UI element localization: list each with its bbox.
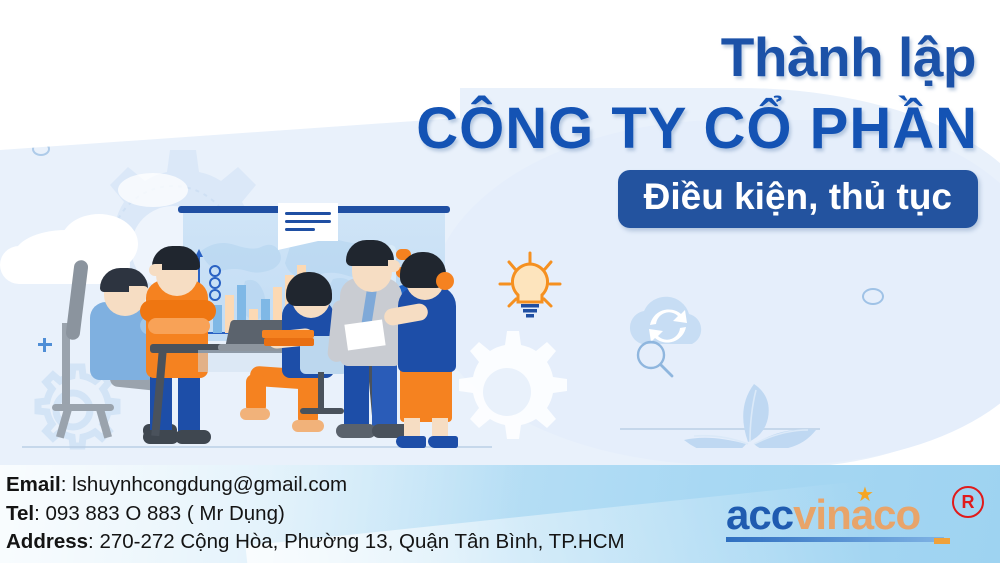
- contact-tel-label: Tel: [6, 502, 34, 525]
- contact-sep: :: [88, 530, 99, 553]
- contact-block: Email: lshuynhcongdung@gmail.com Tel: 09…: [6, 471, 625, 557]
- page-title-line2: CÔNG TY CỔ PHẦN: [416, 95, 978, 162]
- contact-sep: :: [61, 473, 72, 496]
- contact-address-value: 270-272 Cộng Hòa, Phường 13, Quận Tân Bì…: [99, 530, 624, 553]
- contact-tel-row: Tel: 093 883 O 883 ( Mr Dụng): [6, 500, 625, 529]
- plant-leaves-icon: [650, 368, 850, 448]
- contact-address-label: Address: [6, 530, 88, 553]
- logo-wordmark-acc: acc: [726, 491, 793, 538]
- note-bubble: [278, 203, 338, 241]
- contact-address-row: Address: 270-272 Cộng Hòa, Phường 13, Qu…: [6, 528, 625, 557]
- promo-banner: Thành lập CÔNG TY CỔ PHẦN Điều kiện, thủ…: [0, 0, 1000, 563]
- logo-underline: [726, 537, 944, 542]
- logo-wordmark-vinaco: vinaco: [793, 491, 920, 538]
- contact-email-row: Email: lshuynhcongdung@gmail.com: [6, 471, 625, 500]
- contact-email-label: Email: [6, 473, 61, 496]
- subtitle-badge: Điều kiện, thủ tục: [618, 170, 978, 228]
- contact-tel-value[interactable]: 093 883 O 883 ( Mr Dụng): [46, 502, 285, 525]
- company-logo[interactable]: ★ accvinaco R: [718, 482, 986, 548]
- cloud-shape: [118, 173, 188, 207]
- registered-trademark-icon: R: [952, 486, 984, 518]
- contact-sep: :: [34, 502, 45, 525]
- lightbulb-icon: [495, 250, 565, 322]
- page-title-line1: Thành lập: [721, 25, 976, 89]
- logo-accent-tick: [934, 538, 950, 544]
- contact-email-value[interactable]: lshuynhcongdung@gmail.com: [72, 473, 347, 496]
- circle-outline-icon: [862, 288, 884, 305]
- plus-icon: [43, 338, 46, 352]
- logo-wordmark: accvinaco: [726, 494, 920, 536]
